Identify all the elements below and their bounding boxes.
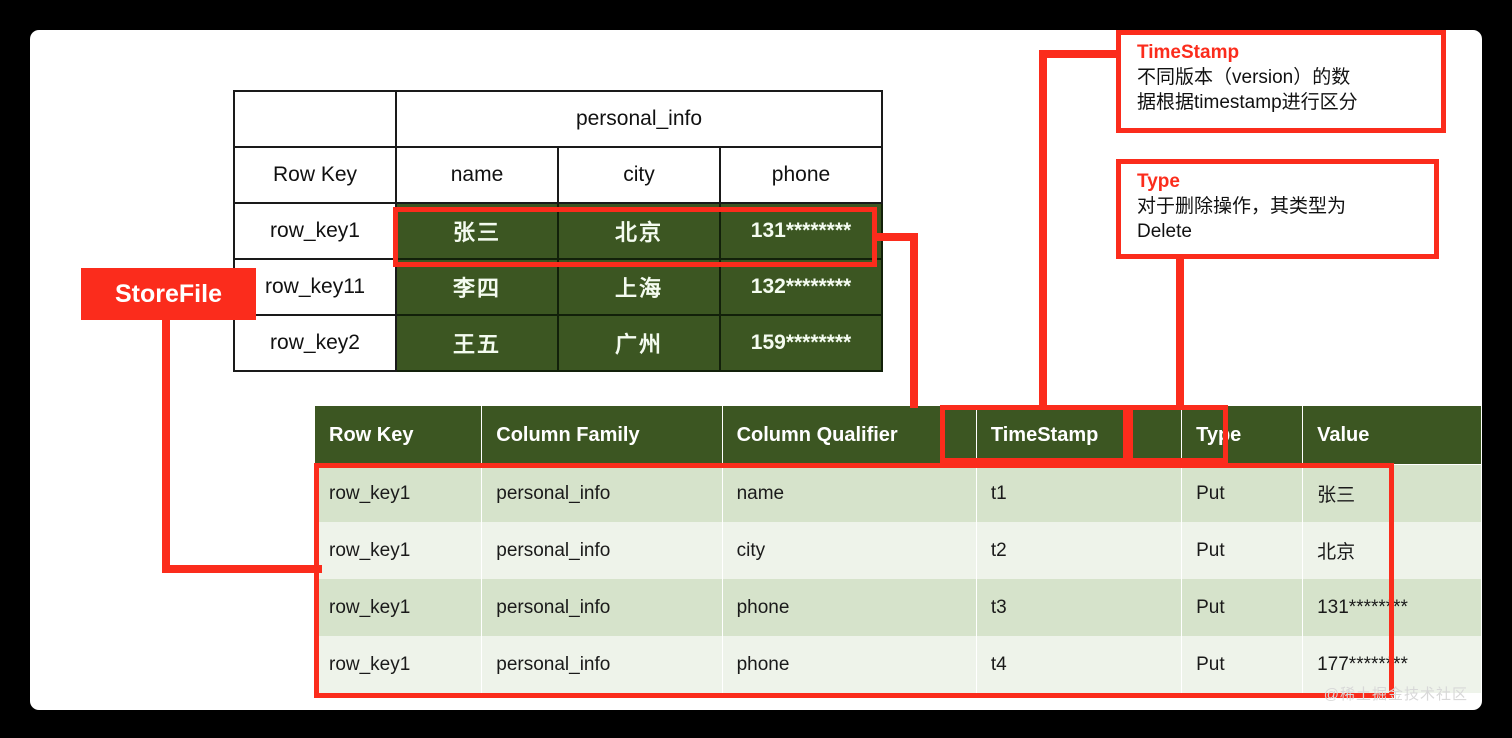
logical-col-name: name (396, 147, 558, 203)
callout-timestamp-title: TimeStamp (1137, 41, 1429, 65)
kv-col-row-key: Row Key (315, 406, 482, 465)
callout-type: Type 对于删除操作，其类型为 Delete (1116, 159, 1439, 259)
highlight-keyvalue-body (314, 463, 1394, 698)
callout-type-line2: Delete (1137, 219, 1422, 244)
logical-table-row: row_key11 李四 上海 132******** (234, 259, 882, 315)
logical-table-family-row: personal_info (234, 91, 882, 147)
timestamp-connector-vertical-upper (1039, 50, 1047, 155)
storefile-label-box: StoreFile (81, 268, 256, 320)
diagram-card: personal_info Row Key name city phone ro… (30, 30, 1482, 710)
logical-cell-phone: 132******** (720, 259, 882, 315)
kv-col-value: Value (1303, 406, 1482, 465)
type-connector-vertical (1176, 259, 1184, 409)
logical-col-row-key: Row Key (234, 147, 396, 203)
logical-cell-phone: 159******** (720, 315, 882, 371)
callout-timestamp-line1: 不同版本（version）的数 (1137, 65, 1429, 90)
logical-cell-name: 王五 (396, 315, 558, 371)
logical-cell-city: 广州 (558, 315, 720, 371)
logical-cell-rowkey: row_key2 (234, 315, 396, 371)
highlight-type-header (1128, 405, 1228, 463)
storefile-label-text: StoreFile (115, 280, 222, 309)
storefile-connector-vertical (162, 320, 170, 573)
logical-table-corner-cell (234, 91, 396, 147)
row-connector-vertical (910, 233, 918, 408)
storefile-connector-horizontal (162, 565, 322, 573)
timestamp-connector-horizontal (1039, 50, 1119, 58)
callout-type-line1: 对于删除操作，其类型为 (1137, 194, 1422, 219)
screenshot-root: personal_info Row Key name city phone ro… (0, 0, 1512, 738)
logical-table-header-row: Row Key name city phone (234, 147, 882, 203)
logical-table-row: row_key2 王五 广州 159******** (234, 315, 882, 371)
watermark: @稀土掘金技术社区 (1324, 683, 1468, 704)
highlight-timestamp-header (940, 405, 1128, 463)
kv-col-column-family: Column Family (482, 406, 722, 465)
timestamp-connector-vertical-lower (1039, 150, 1047, 408)
logical-col-phone: phone (720, 147, 882, 203)
logical-cell-rowkey: row_key1 (234, 203, 396, 259)
logical-col-city: city (558, 147, 720, 203)
logical-cell-name: 李四 (396, 259, 558, 315)
logical-table-family-header: personal_info (396, 91, 882, 147)
logical-cell-city: 上海 (558, 259, 720, 315)
kv-col-column-qualifier: Column Qualifier (722, 406, 976, 465)
callout-type-title: Type (1137, 170, 1422, 194)
keyvalue-header-row: Row Key Column Family Column Qualifier T… (315, 406, 1482, 465)
highlight-logical-row1-values (393, 207, 877, 267)
logical-cell-rowkey: row_key11 (234, 259, 396, 315)
callout-timestamp-line2: 据根据timestamp进行区分 (1137, 90, 1429, 115)
callout-timestamp: TimeStamp 不同版本（version）的数 据根据timestamp进行… (1116, 30, 1446, 133)
